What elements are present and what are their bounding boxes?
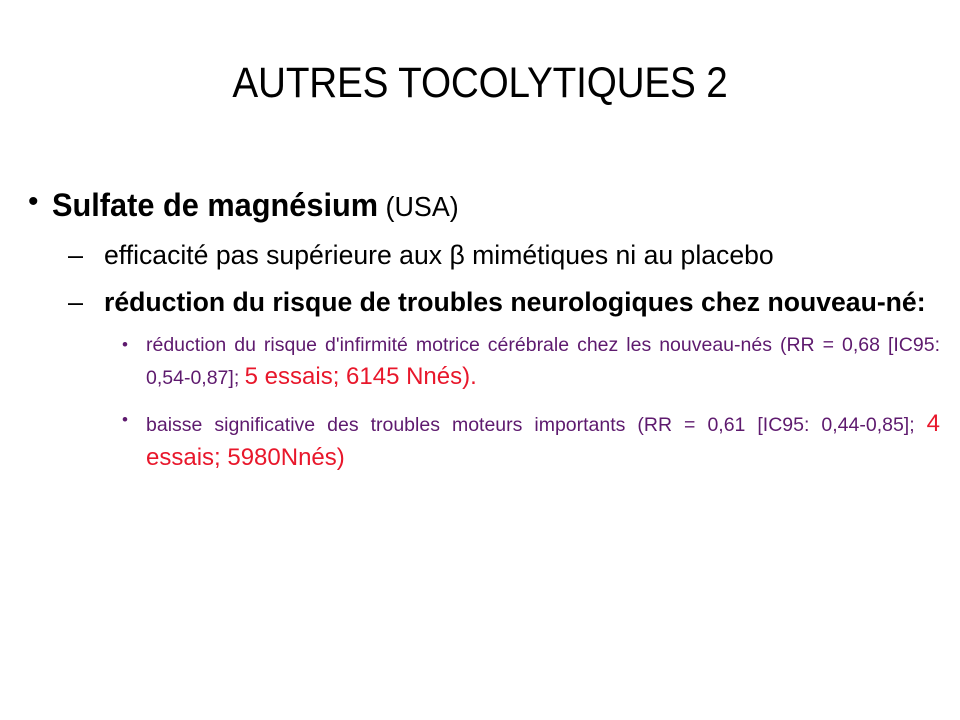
bullet-level2-efficacite: – efficacité pas supérieure aux β miméti…	[22, 239, 940, 272]
bullet-dot-icon: •	[22, 186, 52, 218]
page-title: AUTRES TOCOLYTIQUES 2	[84, 60, 876, 107]
bullet-dot-icon: •	[122, 332, 146, 358]
bullet-level2-text: efficacité pas supérieure aux β mimétiqu…	[104, 239, 927, 272]
bullet-level1-light: (USA)	[378, 191, 459, 222]
bullet-level3-text: réduction du risque d'infirmité motrice …	[146, 332, 940, 394]
bullet-dash-icon: –	[68, 286, 104, 318]
slide-body: • Sulfate de magnésium (USA) – efficacit…	[22, 186, 940, 475]
bullet-level3-emphasis: 5 essais; 6145 Nnés).	[245, 363, 477, 390]
bullet-level1-text: Sulfate de magnésium (USA)	[52, 186, 904, 225]
bullet-level1: • Sulfate de magnésium (USA)	[22, 186, 940, 225]
bullet-dot-icon: •	[122, 407, 146, 433]
bullet-level2-reduction: – réduction du risque de troubles neurol…	[22, 286, 940, 319]
bullet-level3-moteurs: • baisse significative des troubles mote…	[22, 407, 940, 475]
bullet-level3-infirmite: • réduction du risque d'infirmité motric…	[22, 332, 940, 394]
bullet-level2-text: réduction du risque de troubles neurolog…	[104, 286, 927, 319]
bullet-level3-text: baisse significative des troubles moteur…	[146, 407, 940, 475]
bullet-level1-strong: Sulfate de magnésium	[52, 187, 378, 223]
bullet-level3-lead: baisse significative des troubles moteur…	[146, 414, 927, 436]
slide: AUTRES TOCOLYTIQUES 2 • Sulfate de magné…	[0, 0, 960, 720]
bullet-dash-icon: –	[68, 239, 104, 271]
